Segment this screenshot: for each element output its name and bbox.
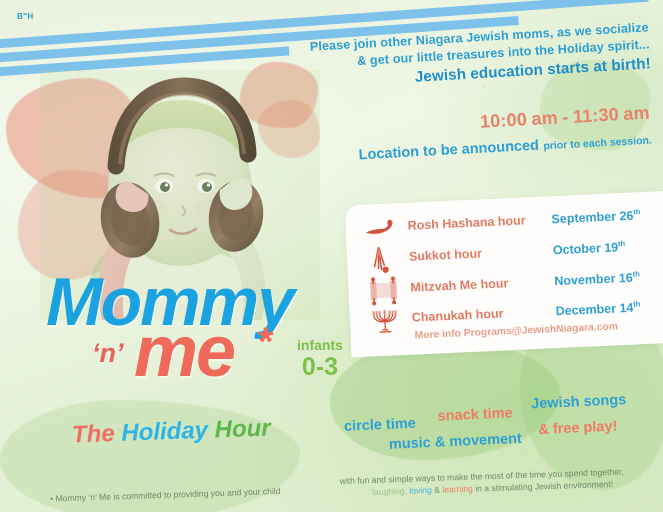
schedule-date-suffix: th xyxy=(633,207,640,216)
menorah-icon xyxy=(367,305,402,337)
schedule-date-suffix: th xyxy=(633,299,640,308)
activity-free-play: & free play! xyxy=(538,419,618,439)
footer-word-learning: learning xyxy=(442,484,473,495)
bsd-mark: B"H xyxy=(17,12,34,21)
location-sub-text: prior to each session. xyxy=(543,134,652,152)
schedule-date-suffix: th xyxy=(618,239,625,248)
mommy-n-me-logo: Mommy ‘n’ me * infants 0-3 xyxy=(30,268,370,393)
schedule-event-name: Mitzvah Me hour xyxy=(410,276,508,294)
activity-circle-time: circle time xyxy=(344,416,416,435)
schedule-event-date: December 14th xyxy=(555,299,641,318)
footer-line-3-tail: in a stimulating Jewish environment! xyxy=(475,479,613,494)
event-time-dash: - xyxy=(562,107,569,127)
schedule-date-month: November xyxy=(554,272,616,289)
event-time-start-ampm: am xyxy=(531,108,558,129)
tagline-word-holiday: Holiday xyxy=(121,417,209,447)
poster-canvas: B"H xyxy=(0,0,663,512)
activity-music-movement: music & movement xyxy=(389,431,523,453)
schedule-date-month: September xyxy=(551,209,616,226)
schedule-event-date: October 19th xyxy=(553,239,626,257)
infants-label: infants xyxy=(280,338,360,352)
logo-asterisk: * xyxy=(258,320,274,365)
event-time-end-ampm: am xyxy=(623,103,650,124)
location-main-text: Location to be announced xyxy=(358,138,539,164)
footer-ampersand: & xyxy=(434,485,440,495)
schedule-event-name: Chanukah hour xyxy=(411,306,503,324)
schedule-date-month: October xyxy=(553,241,602,257)
event-time-start: 10:00 xyxy=(479,109,527,132)
footer-line-1: • Mommy ‘n’ Me is committed to providing… xyxy=(50,486,281,504)
schedule-card-content: Rosh Hashana hour September 26th Sukkot … xyxy=(345,191,663,361)
schedule-event-date: November 16th xyxy=(554,269,640,288)
schedule-date-day: 16 xyxy=(619,271,634,286)
torah-scroll-icon xyxy=(366,275,401,307)
schedule-date-suffix: th xyxy=(632,269,639,278)
schedule-date-day: 19 xyxy=(604,240,619,255)
infants-age-badge: infants 0-3 xyxy=(280,338,360,380)
activity-jewish-songs: Jewish songs xyxy=(531,392,627,412)
tagline-word-hour: Hour xyxy=(214,415,271,444)
schedule-event-name: Rosh Hashana hour xyxy=(407,213,526,232)
schedule-event-name: Sukkot hour xyxy=(409,246,482,263)
shofar-icon xyxy=(363,213,398,245)
event-time-end: 11:30 xyxy=(572,104,619,126)
tagline-word-the: The xyxy=(72,420,116,448)
infants-age-range: 0-3 xyxy=(280,355,360,380)
logo-word-n: ‘n’ xyxy=(92,338,124,369)
schedule-date-month: December xyxy=(555,302,616,319)
footer-word-laughing: laughing, xyxy=(372,486,407,497)
schedule-date-day: 14 xyxy=(619,301,634,316)
schedule-date-day: 26 xyxy=(619,209,634,224)
schedule-event-date: September 26th xyxy=(551,207,641,226)
logo-word-me: me xyxy=(134,316,234,388)
footer-word-loving: loving xyxy=(409,485,432,496)
activity-snack-time: snack time xyxy=(437,405,513,424)
